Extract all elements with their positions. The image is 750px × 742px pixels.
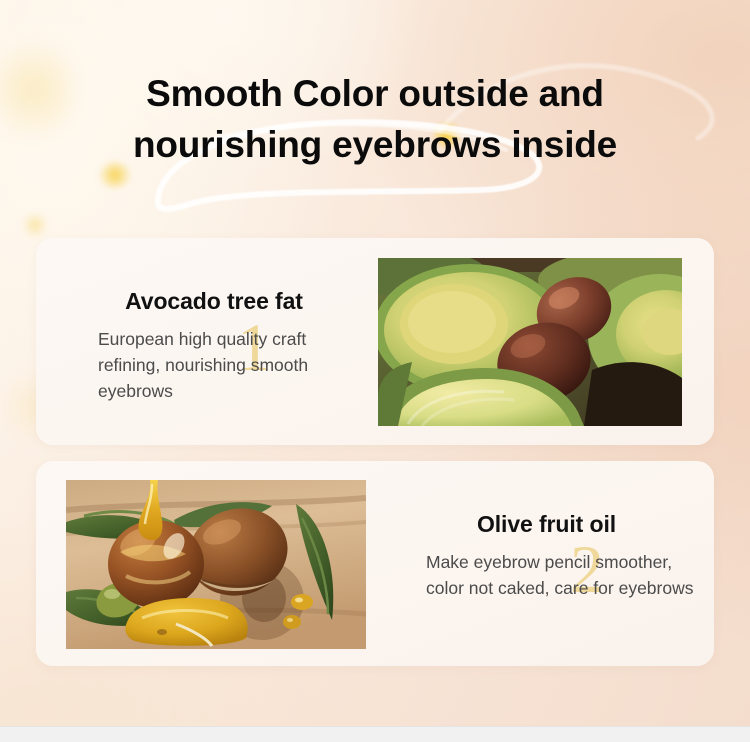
feature-card-2: 2 Olive fruit oil Make eyebrow pencil sm…: [36, 461, 714, 666]
page-bottom-strip: [0, 726, 750, 742]
card-body-2: Make eyebrow pencil smoother, color not …: [394, 549, 699, 601]
olive-fruit-oil-photo: [66, 480, 366, 649]
feature-card-1: 1 Avocado tree fat European high quality…: [36, 238, 714, 445]
card-title-1: Avocado tree fat: [64, 288, 364, 315]
product-feature-banner: Smooth Color outside and nourishing eyeb…: [0, 0, 750, 742]
feature-card-2-text: 2 Olive fruit oil Make eyebrow pencil sm…: [394, 511, 699, 601]
card-body-1: European high quality craft refining, no…: [64, 326, 364, 404]
avocado-halves-photo: [378, 258, 682, 426]
page-title: Smooth Color outside and nourishing eyeb…: [0, 68, 750, 170]
feature-card-1-text: 1 Avocado tree fat European high quality…: [64, 288, 364, 404]
card-title-2: Olive fruit oil: [394, 511, 699, 538]
